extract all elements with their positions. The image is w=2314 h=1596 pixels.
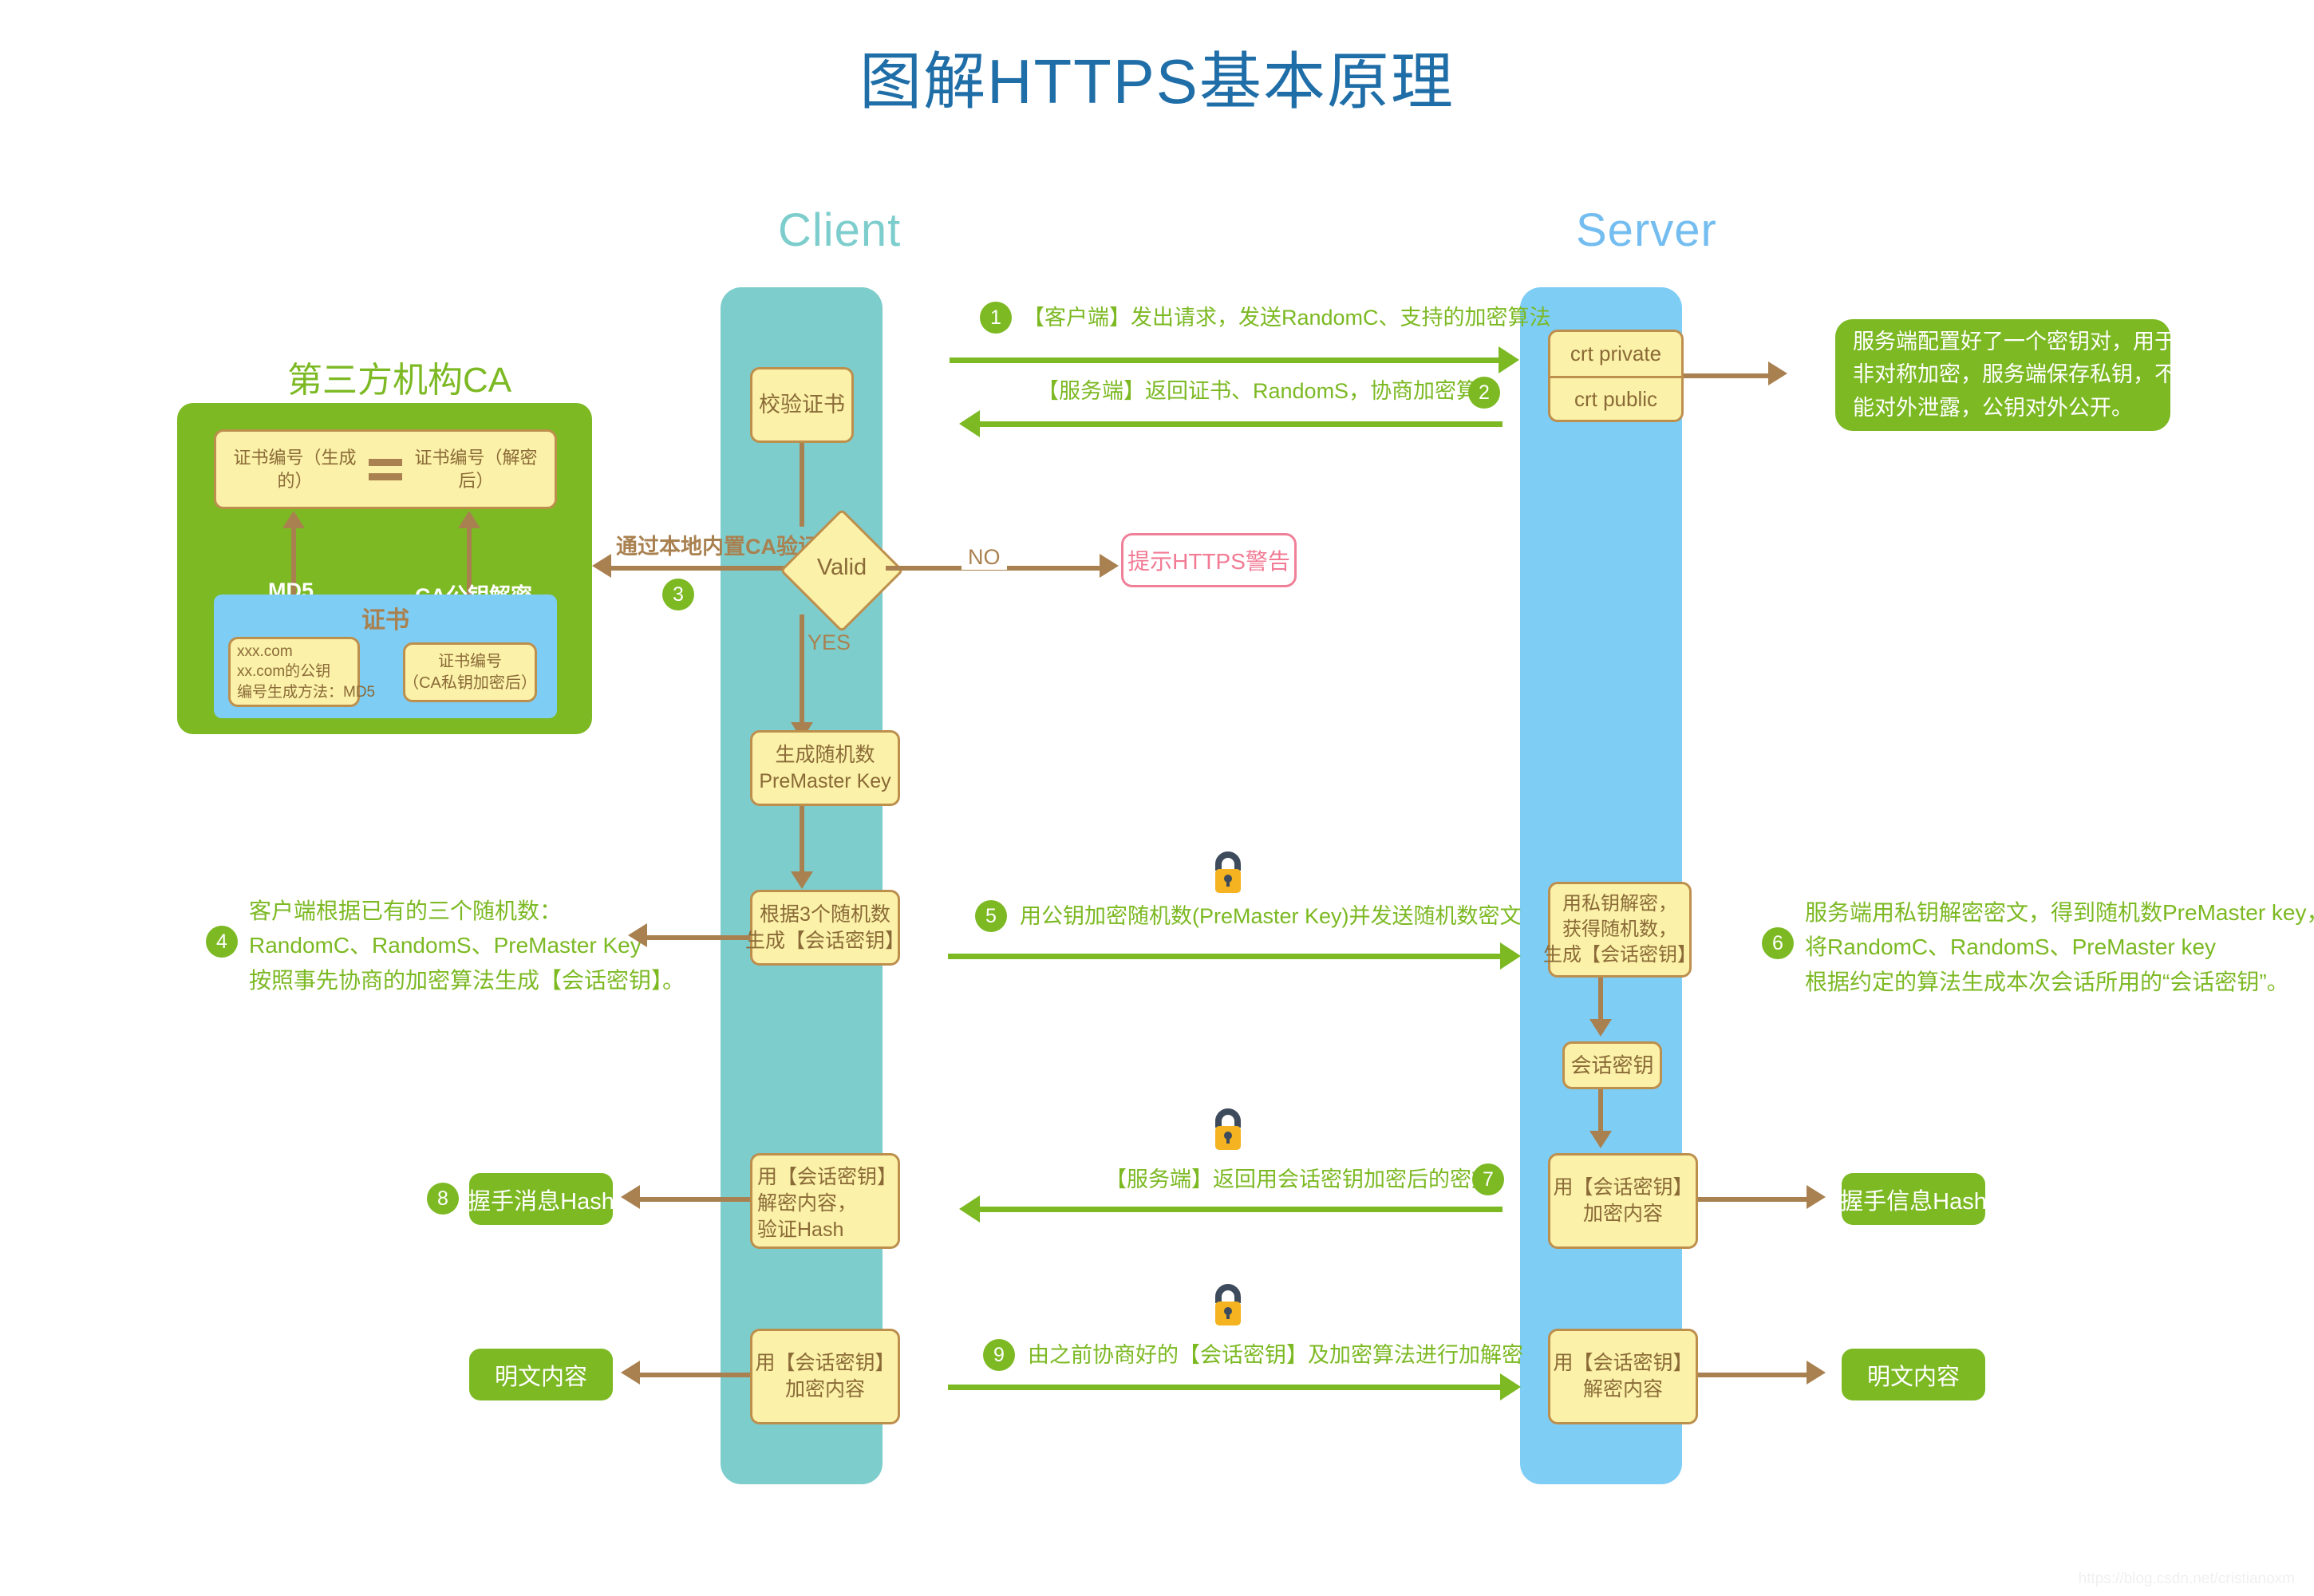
server-column-header: Server bbox=[1576, 203, 1717, 257]
https-warning-box: 提示HTTPS警告 bbox=[1121, 533, 1297, 587]
client-gen-session-key-line1: 根据3个随机数 bbox=[760, 902, 890, 928]
ca-cert-method: 编号生成方法：MD5 bbox=[237, 682, 375, 702]
client-handshake-hash-box: 握手消息Hash bbox=[469, 1173, 613, 1225]
step-badge-7: 7 bbox=[1472, 1163, 1504, 1195]
server-decrypt-private-box: 用私钥解密， 获得随机数， 生成【会话密钥】 bbox=[1548, 882, 1692, 978]
client-valid-label: Valid bbox=[786, 555, 898, 581]
message-7-arrow-shaft bbox=[980, 1207, 1503, 1212]
server-encrypt-line1: 用【会话密钥】 bbox=[1554, 1175, 1693, 1201]
message-9-arrow-head bbox=[1500, 1373, 1521, 1400]
server-encrypt-line2: 加密内容 bbox=[1583, 1201, 1663, 1227]
client-genrandom-to-sessionkey-shaft bbox=[800, 806, 804, 878]
server-sessionkey-to-encrypt-shaft bbox=[1598, 1089, 1603, 1137]
message-1-arrow-head bbox=[1499, 346, 1519, 373]
message-7-arrow-head bbox=[959, 1195, 980, 1223]
client-genrandom-to-sessionkey-head bbox=[791, 871, 813, 889]
server-session-key-note-line1: 服务端用私钥解密密文，得到随机数PreMaster key， bbox=[1805, 895, 2314, 930]
server-keypair-note-line2: 非对称加密，服务端保存私钥，不 bbox=[1853, 358, 2176, 391]
client-gen-random-line2: PreMaster Key bbox=[759, 768, 890, 795]
server-handshake-hash-arrow-shaft bbox=[1698, 1197, 1810, 1202]
client-session-key-note-arrow-head bbox=[628, 923, 647, 947]
server-decrypt-content-box: 用【会话密钥】 解密内容 bbox=[1548, 1329, 1698, 1424]
client-gen-random-line1: 生成随机数 bbox=[775, 742, 875, 768]
ca-certificate-title: 证书 bbox=[214, 600, 557, 635]
client-gen-session-key-line2: 生成【会话密钥】 bbox=[745, 928, 905, 954]
ca-cert-number-generated: 证书编号（生成的） bbox=[221, 446, 369, 492]
client-encrypt-line2: 加密内容 bbox=[785, 1377, 865, 1403]
server-session-key-note-line2: 将RandomC、RandomS、PreMaster key bbox=[1805, 930, 2314, 964]
client-session-key-note-line2: RandomC、RandomS、PreMaster Key bbox=[249, 928, 685, 962]
client-encrypt-content-box: 用【会话密钥】 加密内容 bbox=[750, 1329, 900, 1424]
client-generate-random-box: 生成随机数 PreMaster Key bbox=[750, 730, 900, 806]
client-decrypt-line2: 解密内容， bbox=[757, 1191, 857, 1217]
step-badge-9: 9 bbox=[983, 1339, 1015, 1371]
server-keypair-note: 服务端配置好了一个密钥对，用于 非对称加密，服务端保存私钥，不 能对外泄露，公钥… bbox=[1835, 319, 2170, 431]
server-keypair-note-line1: 服务端配置好了一个密钥对，用于 bbox=[1853, 326, 2176, 358]
server-crt-private-box: crt private bbox=[1548, 330, 1684, 376]
equals-icon bbox=[369, 459, 402, 480]
ca-cert-domain: xxx.com bbox=[237, 642, 293, 662]
step-badge-4: 4 bbox=[206, 926, 238, 958]
client-column-header: Client bbox=[778, 203, 901, 257]
yes-branch-label: YES bbox=[808, 630, 851, 655]
server-crt-private-label: crt private bbox=[1570, 340, 1661, 367]
step-badge-1: 1 bbox=[980, 302, 1012, 334]
server-plaintext-box: 明文内容 bbox=[1842, 1349, 1985, 1400]
message-1-arrow-shaft bbox=[950, 358, 1500, 363]
server-decrypt-content-line2: 解密内容 bbox=[1583, 1377, 1663, 1403]
step-badge-5: 5 bbox=[975, 900, 1007, 932]
ca-cert-number-encrypted: （CA私钥加密后） bbox=[403, 673, 537, 693]
message-5-text: 用公钥加密随机数(PreMaster Key)并发送随机数密文 bbox=[1020, 900, 1522, 934]
server-session-key-note-line3: 根据约定的算法生成本次会话所用的“会话密钥”。 bbox=[1805, 965, 2314, 999]
server-decrypt-content-line1: 用【会话密钥】 bbox=[1554, 1350, 1693, 1377]
server-decrypt-to-sessionkey-shaft bbox=[1598, 978, 1603, 1025]
server-decrypt-priv-line1: 用私钥解密， bbox=[1562, 891, 1677, 917]
step-badge-3: 3 bbox=[662, 579, 694, 610]
ca-certificate-number-box: 证书编号 （CA私钥加密后） bbox=[403, 642, 537, 702]
page-title: 图解HTTPS基本原理 bbox=[0, 32, 2314, 121]
client-session-key-note-line3: 按照事先协商的加密算法生成【会话密钥】。 bbox=[249, 963, 685, 997]
yes-branch-shaft bbox=[800, 614, 804, 726]
server-keypair-note-line3: 能对外泄露，公钥对外公开。 bbox=[1853, 392, 2133, 425]
server-session-key-box: 会话密钥 bbox=[1562, 1041, 1662, 1089]
step3-arrow-head bbox=[592, 554, 611, 578]
step-badge-6: 6 bbox=[1762, 927, 1794, 959]
server-crt-public-label: crt public bbox=[1574, 385, 1657, 413]
client-decrypt-line3: 验证Hash bbox=[757, 1217, 843, 1243]
server-handshake-hash-arrow-head bbox=[1807, 1185, 1826, 1209]
client-verify-to-valid-shaft bbox=[800, 443, 804, 527]
server-session-key-label: 会话密钥 bbox=[1570, 1052, 1653, 1079]
message-2-arrow-head bbox=[959, 410, 980, 437]
client-handshake-hash-arrow-shaft bbox=[638, 1197, 750, 1202]
lock-icon bbox=[1210, 848, 1246, 898]
client-handshake-hash-arrow-head bbox=[621, 1185, 640, 1209]
lock-icon-3 bbox=[1210, 1281, 1246, 1330]
message-2-text: 【服务端】返回证书、RandomS，协商加密算法 bbox=[1037, 375, 1499, 409]
message-7-text: 【服务端】返回用会话密钥加密后的密文 bbox=[1105, 1163, 1493, 1197]
server-encrypt-content-box: 用【会话密钥】 加密内容 bbox=[1548, 1153, 1698, 1249]
server-plaintext-arrow-head bbox=[1807, 1361, 1826, 1385]
ca-equality-box: 证书编号（生成的） 证书编号（解密后） bbox=[214, 429, 557, 509]
client-decrypt-line1: 用【会话密钥】 bbox=[757, 1164, 897, 1191]
server-keypair-note-arrow-shaft bbox=[1684, 373, 1771, 378]
ca-certificate-details-box: xxx.com xx.com的公钥 编号生成方法：MD5 bbox=[228, 637, 360, 707]
server-sessionkey-to-encrypt-head bbox=[1589, 1131, 1612, 1148]
client-encrypt-line1: 用【会话密钥】 bbox=[756, 1350, 895, 1377]
no-branch-label: NO bbox=[962, 545, 1007, 570]
watermark: https://blog.csdn.net/cristianoxm bbox=[2079, 1570, 2295, 1588]
server-session-key-note: 服务端用私钥解密密文，得到随机数PreMaster key， 将RandomC、… bbox=[1805, 895, 2314, 999]
server-decrypt-priv-line3: 生成【会话密钥】 bbox=[1543, 942, 1696, 968]
client-verify-cert-label: 校验证书 bbox=[759, 391, 845, 420]
message-9-arrow-shaft bbox=[948, 1385, 1503, 1390]
server-plaintext-arrow-shaft bbox=[1698, 1373, 1810, 1377]
server-decrypt-priv-line2: 获得随机数， bbox=[1562, 917, 1677, 942]
ca-section-title: 第三方机构CA bbox=[287, 351, 495, 402]
client-plaintext-arrow-head bbox=[621, 1361, 640, 1385]
client-plaintext-arrow-shaft bbox=[638, 1373, 750, 1377]
ca-decrypt-arrow-head bbox=[458, 511, 480, 528]
ca-cert-pubkey: xx.com的公钥 bbox=[237, 662, 330, 681]
client-decrypt-verify-hash-box: 用【会话密钥】 解密内容， 验证Hash bbox=[750, 1153, 900, 1249]
server-keypair-note-arrow-head bbox=[1768, 361, 1787, 385]
message-1-text: 【客户端】发出请求，发送RandomC、支持的加密算法 bbox=[1023, 302, 1551, 335]
client-session-key-note-line1: 客户端根据已有的三个随机数： bbox=[249, 894, 685, 928]
client-session-key-note-arrow-shaft bbox=[646, 935, 750, 940]
client-verify-cert-box: 校验证书 bbox=[750, 367, 854, 443]
step-badge-8: 8 bbox=[427, 1183, 459, 1215]
client-plaintext-box: 明文内容 bbox=[469, 1349, 613, 1400]
no-branch-arrow-head bbox=[1100, 554, 1119, 578]
lock-icon-2 bbox=[1210, 1105, 1246, 1155]
step-badge-2: 2 bbox=[1468, 377, 1500, 409]
server-handshake-hash-box: 握手信息Hash bbox=[1842, 1173, 1985, 1225]
message-2-arrow-shaft bbox=[980, 421, 1503, 427]
ca-md5-arrow-head bbox=[282, 511, 305, 528]
ca-cert-number-label: 证书编号 bbox=[438, 651, 502, 672]
message-5-arrow-shaft bbox=[948, 954, 1503, 959]
step3-arrow-shaft bbox=[610, 566, 806, 571]
server-decrypt-to-sessionkey-head bbox=[1589, 1019, 1612, 1037]
client-session-key-note: 客户端根据已有的三个随机数： RandomC、RandomS、PreMaster… bbox=[249, 894, 685, 997]
ca-cert-number-decrypted: 证书编号（解密后） bbox=[402, 446, 550, 492]
client-generate-session-key-box: 根据3个随机数 生成【会话密钥】 bbox=[750, 890, 900, 966]
message-9-text: 由之前协商好的【会话密钥】及加密算法进行加解密 bbox=[1028, 1339, 1523, 1373]
server-crt-public-box: crt public bbox=[1548, 376, 1684, 422]
message-5-arrow-head bbox=[1500, 942, 1521, 970]
